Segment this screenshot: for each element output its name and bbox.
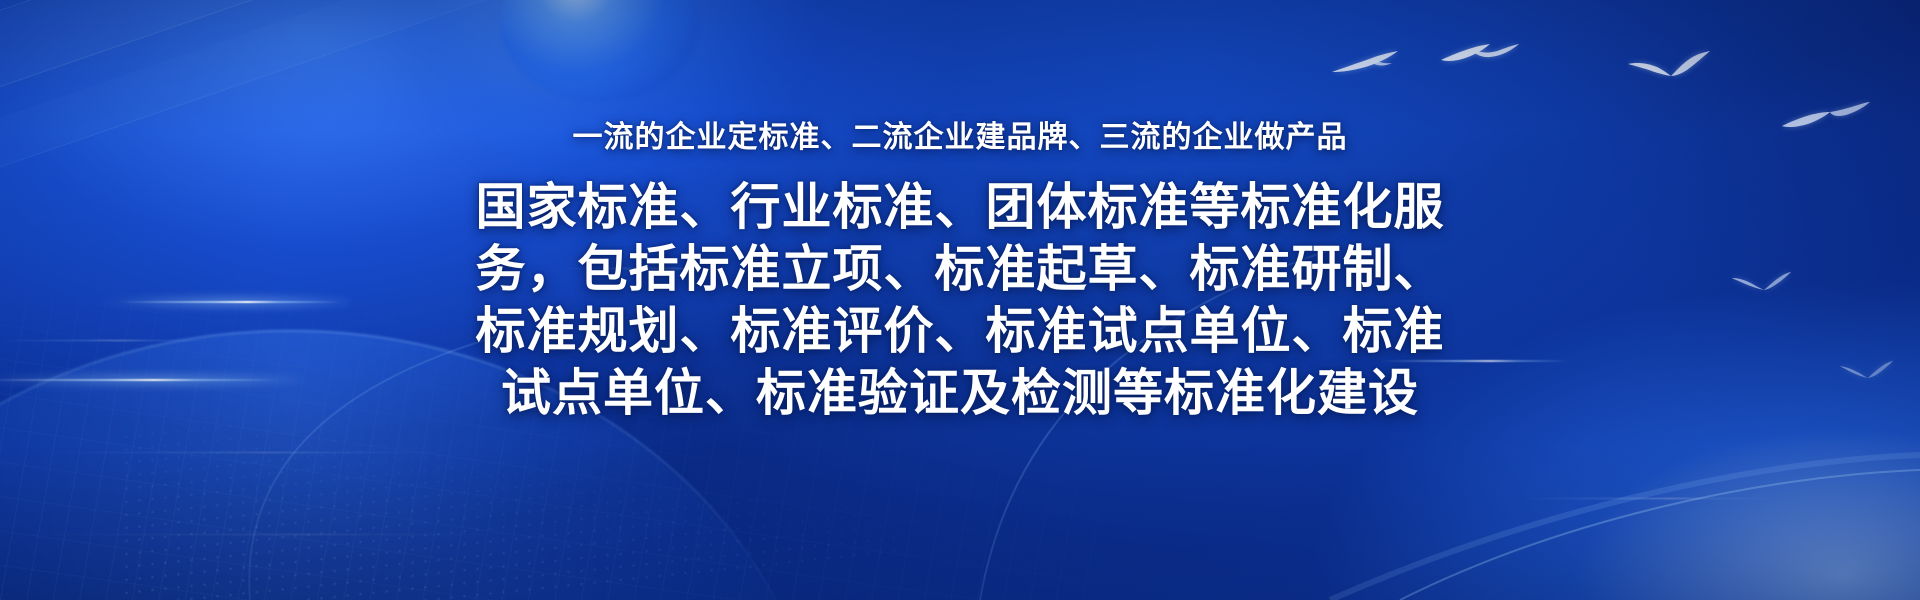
body-text-block: 国家标准、行业标准、团体标准等标准化服 务，包括标准立项、标准起草、标准研制、 …	[440, 176, 1480, 424]
banner-copy: 一流的企业定标准、二流企业建品牌、三流的企业做产品 国家标准、行业标准、团体标准…	[0, 0, 1920, 600]
body-line: 试点单位、标准验证及检测等标准化建设	[440, 362, 1480, 424]
headline-text: 一流的企业定标准、二流企业建品牌、三流的企业做产品	[573, 118, 1348, 158]
body-line: 国家标准、行业标准、团体标准等标准化服	[440, 176, 1480, 238]
body-line: 务，包括标准立项、标准起草、标准研制、	[440, 238, 1480, 300]
body-line: 标准规划、标准评价、标准试点单位、标准	[440, 300, 1480, 362]
banner-canvas: 一流的企业定标准、二流企业建品牌、三流的企业做产品 国家标准、行业标准、团体标准…	[0, 0, 1920, 600]
